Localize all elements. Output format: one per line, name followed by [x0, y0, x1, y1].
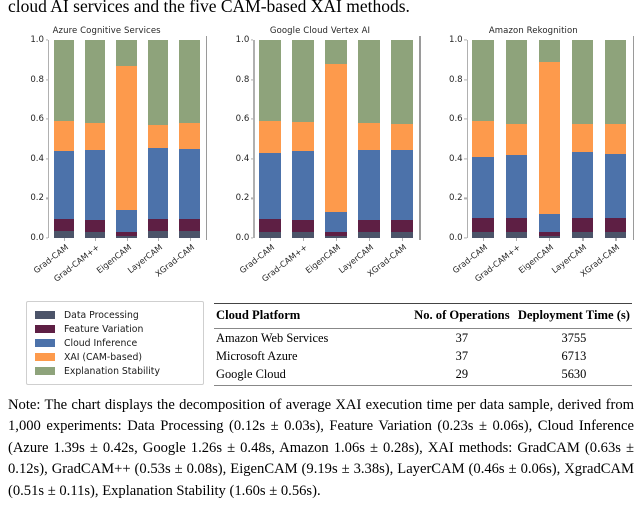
bar-segment — [539, 62, 560, 214]
stacked-bar[interactable]: Grad-CAM — [54, 40, 74, 238]
bar-segment — [179, 40, 199, 123]
bar-segment — [539, 40, 560, 62]
y-axis-tick-label: 0.0 — [30, 233, 44, 243]
x-axis-tick-label: EigenCAM — [303, 242, 342, 275]
y-axis-tick-label: 0.8 — [449, 75, 463, 85]
bar-segment — [292, 220, 313, 232]
legend-color-swatch — [35, 325, 55, 333]
x-axis-tick-mark — [615, 238, 616, 241]
bar-segment — [85, 40, 105, 123]
legend-item: Feature Variation — [35, 322, 195, 336]
bar-segment — [179, 219, 199, 231]
bar-segment — [292, 40, 313, 122]
y-axis-tick-label: 0.4 — [449, 154, 463, 164]
stacked-bar[interactable]: Grad-CAM++ — [292, 40, 313, 238]
stacked-bar[interactable]: LayerCAM — [572, 40, 593, 238]
panel-divider-line — [419, 36, 420, 240]
table-header-deployment-time: Deployment Time (s) — [516, 304, 632, 329]
table-cell-platform: Amazon Web Services — [214, 329, 408, 348]
bar-segment — [506, 40, 527, 124]
bar-segment — [506, 218, 527, 231]
table-cell-operations: 37 — [408, 329, 516, 348]
bar-segment — [259, 219, 280, 231]
bar-segment — [572, 152, 593, 218]
bar-segment — [54, 231, 74, 238]
bar-segment — [539, 214, 560, 232]
table-cell-platform: Microsoft Azure — [214, 347, 408, 365]
x-axis-tick-mark — [270, 238, 271, 241]
bar-segment — [391, 40, 412, 124]
plot-area: 0.00.20.40.60.81.0Grad-CAMGrad-CAM++Eige… — [253, 40, 418, 238]
chart-legend: Data ProcessingFeature VariationCloud In… — [26, 301, 204, 385]
legend-item: Cloud Inference — [35, 336, 195, 350]
bar-segment — [605, 154, 626, 218]
stacked-bar[interactable]: Grad-CAM — [259, 40, 280, 238]
bar-segment — [472, 40, 493, 121]
bar-segment — [572, 40, 593, 124]
x-axis-tick-mark — [516, 238, 517, 241]
stacked-bar[interactable]: XGrad-CAM — [605, 40, 626, 238]
bar-segment — [54, 121, 74, 151]
table-cell-deployment-time: 6713 — [516, 347, 632, 365]
x-axis-tick-mark — [158, 238, 159, 241]
y-axis-tick-label: 0.0 — [449, 233, 463, 243]
x-axis-tick-label: EigenCAM — [517, 242, 556, 275]
stacked-bar[interactable]: EigenCAM — [325, 40, 346, 238]
bar-segment — [148, 40, 168, 125]
legend-item: Explanation Stability — [35, 364, 195, 378]
bar-segment — [259, 40, 280, 121]
y-axis-tick-label: 0.8 — [236, 75, 250, 85]
bar-segment — [292, 122, 313, 151]
bar-segment — [506, 124, 527, 155]
bar-segment — [391, 220, 412, 232]
legend-item-label: Explanation Stability — [64, 366, 160, 377]
bar-segment — [325, 40, 346, 64]
bar-segment — [148, 148, 168, 219]
y-axis-tick-label: 0.8 — [30, 75, 44, 85]
stacked-bar[interactable]: Grad-CAM++ — [85, 40, 105, 238]
panel-divider-line — [633, 36, 634, 240]
bar-segment — [605, 40, 626, 124]
bars-container: Grad-CAMGrad-CAM++EigenCAMLayerCAMXGrad-… — [48, 40, 205, 238]
y-axis-tick-label: 1.0 — [449, 35, 463, 45]
stacked-bar[interactable]: XGrad-CAM — [179, 40, 199, 238]
y-axis-tick-label: 0.6 — [236, 114, 250, 124]
cloud-platform-table-wrapper: Cloud Platform No. of Operations Deploym… — [214, 303, 632, 386]
figure-stacked-bar-charts: Azure Cognitive ServicesNormalized Opera… — [0, 22, 640, 290]
stacked-bar[interactable]: XGrad-CAM — [391, 40, 412, 238]
table-cell-deployment-time: 5630 — [516, 365, 632, 385]
y-axis-tick-label: 0.6 — [30, 114, 44, 124]
x-axis-tick-mark — [369, 238, 370, 241]
x-axis-tick-mark — [549, 238, 550, 241]
plot-area: 0.00.20.40.60.81.0Grad-CAMGrad-CAM++Eige… — [467, 40, 632, 238]
table-row: Google Cloud295630 — [214, 365, 632, 385]
table-cell-operations: 37 — [408, 347, 516, 365]
x-axis-tick-mark — [95, 238, 96, 241]
y-axis-tick-label: 0.6 — [449, 114, 463, 124]
bar-segment — [605, 218, 626, 232]
bar-segment — [325, 212, 346, 233]
bar-segment — [179, 123, 199, 148]
bar-segment — [148, 219, 168, 231]
bar-segment — [116, 210, 136, 232]
cloud-platform-table: Cloud Platform No. of Operations Deploym… — [214, 303, 632, 386]
table-cell-platform: Google Cloud — [214, 365, 408, 385]
x-axis-tick-mark — [336, 238, 337, 241]
legend-item-label: Cloud Inference — [64, 338, 137, 349]
bar-segment — [358, 123, 379, 149]
bar-segment — [85, 123, 105, 150]
chart-panel-3: Amazon Rekognition0.00.20.40.60.81.0Grad… — [427, 22, 640, 290]
chart-panel-group: Azure Cognitive ServicesNormalized Opera… — [0, 22, 640, 290]
table-header-operations: No. of Operations — [408, 304, 516, 329]
y-axis-tick-label: 1.0 — [236, 35, 250, 45]
bar-segment — [506, 155, 527, 219]
table-head: Cloud Platform No. of Operations Deploym… — [214, 304, 632, 329]
table-row: Microsoft Azure376713 — [214, 347, 632, 365]
bar-segment — [54, 219, 74, 232]
stacked-bar[interactable]: LayerCAM — [358, 40, 379, 238]
x-axis-tick-mark — [127, 238, 128, 241]
page-body-text-fragment: cloud AI services and the five CAM-based… — [8, 0, 632, 16]
x-axis-tick-mark — [582, 238, 583, 241]
bar-segment — [54, 151, 74, 218]
bar-segment — [358, 40, 379, 123]
bar-segment — [179, 149, 199, 219]
legend-color-swatch — [35, 367, 55, 375]
bar-segment — [54, 40, 74, 121]
x-axis-tick-mark — [402, 238, 403, 241]
y-axis-tick-label: 0.4 — [30, 154, 44, 164]
table-cell-deployment-time: 3755 — [516, 329, 632, 348]
legend-item-label: Feature Variation — [64, 324, 143, 335]
bar-segment — [85, 220, 105, 232]
bar-segment — [472, 157, 493, 217]
figure-note: Note: The chart displays the decompositi… — [8, 395, 634, 502]
stacked-bar[interactable]: EigenCAM — [116, 40, 136, 238]
bar-segment — [358, 150, 379, 220]
bar-segment — [116, 40, 136, 66]
x-axis-tick-mark — [303, 238, 304, 241]
x-axis-tick-mark — [483, 238, 484, 241]
legend-item-label: Data Processing — [64, 310, 139, 321]
bar-segment — [472, 121, 493, 158]
legend-item-label: XAI (CAM-based) — [64, 352, 142, 363]
y-axis-tick-label: 0.2 — [236, 193, 250, 203]
table-cell-operations: 29 — [408, 365, 516, 385]
stacked-bar[interactable]: LayerCAM — [148, 40, 168, 238]
bar-segment — [292, 151, 313, 220]
x-axis-tick-mark — [190, 238, 191, 241]
bar-segment — [358, 220, 379, 232]
x-axis-tick-mark — [64, 238, 65, 241]
bars-container: Grad-CAMGrad-CAM++EigenCAMLayerCAMXGrad-… — [467, 40, 632, 238]
panel-divider-line — [206, 36, 207, 240]
bar-segment — [605, 124, 626, 153]
y-axis-tick-label: 1.0 — [30, 35, 44, 45]
y-axis-tick-label: 0.2 — [30, 193, 44, 203]
bar-segment — [116, 66, 136, 211]
plot-area: 0.00.20.40.60.81.0Grad-CAMGrad-CAM++Eige… — [48, 40, 205, 238]
stacked-bar[interactable]: Grad-CAM++ — [506, 40, 527, 238]
bar-segment — [572, 218, 593, 232]
stacked-bar[interactable]: Grad-CAM — [472, 40, 493, 238]
bar-segment — [259, 121, 280, 153]
bar-segment — [391, 124, 412, 150]
bar-segment — [572, 124, 593, 152]
legend-item: XAI (CAM-based) — [35, 350, 195, 364]
bar-segment — [259, 153, 280, 219]
legend-color-swatch — [35, 339, 55, 347]
chart-panel-2: Google Cloud Vertex AI0.00.20.40.60.81.0… — [213, 22, 426, 290]
bar-segment — [148, 125, 168, 149]
legend-item: Data Processing — [35, 308, 195, 322]
stacked-bar[interactable]: EigenCAM — [539, 40, 560, 238]
bar-segment — [85, 150, 105, 220]
legend-color-swatch — [35, 353, 55, 361]
legend-color-swatch — [35, 311, 55, 319]
y-axis-tick-label: 0.0 — [236, 233, 250, 243]
bar-segment — [472, 218, 493, 232]
bars-container: Grad-CAMGrad-CAM++EigenCAMLayerCAMXGrad-… — [253, 40, 418, 238]
table-header-row: Cloud Platform No. of Operations Deploym… — [214, 304, 632, 329]
y-axis-tick-label: 0.4 — [236, 154, 250, 164]
table-row: Amazon Web Services373755 — [214, 329, 632, 348]
table-body: Amazon Web Services373755Microsoft Azure… — [214, 329, 632, 386]
bar-segment — [391, 150, 412, 219]
y-axis-tick-label: 0.2 — [449, 193, 463, 203]
bar-segment — [325, 64, 346, 212]
chart-panel-1: Azure Cognitive ServicesNormalized Opera… — [0, 22, 213, 290]
table-header-platform: Cloud Platform — [214, 304, 408, 329]
